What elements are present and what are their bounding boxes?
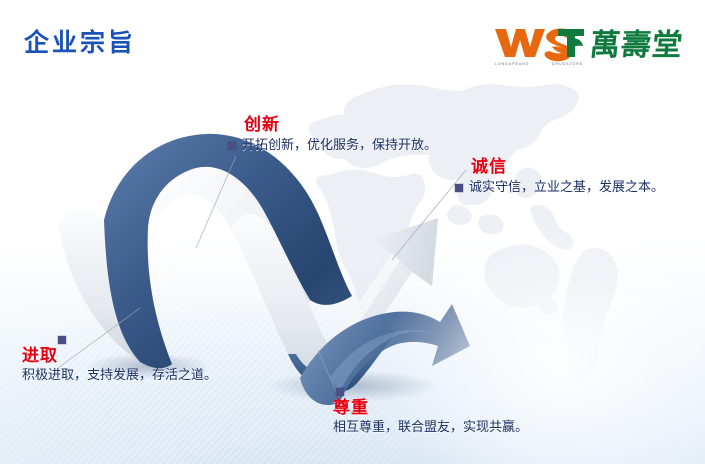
logo-tagline: LONGUPEANG DRUGSTORE <box>495 62 583 66</box>
callout-zunzhong: 尊重 相互尊重，联合盟友，实现共赢。 <box>333 388 528 436</box>
callout-heading: 诚信 <box>471 159 664 176</box>
callout-chuangxin: 创新 开拓创新，优化服务，保持开放。 <box>228 117 437 154</box>
square-bullet-icon <box>336 388 344 396</box>
square-bullet-icon <box>455 184 463 192</box>
callout-text: 诚实守信，立业之基，发展之本。 <box>469 181 664 196</box>
callout-jinqu: 进取 积极进取，支持发展，存活之道。 <box>22 336 217 384</box>
callout-text-row: 开拓创新，优化服务，保持开放。 <box>228 139 437 154</box>
callout-text: 相互尊重，联合盟友，实现共赢。 <box>333 421 528 436</box>
brand-name-cn: 萬壽堂 <box>588 31 684 61</box>
logo-tagline-left: LONGUPEANG <box>495 62 529 66</box>
callout-heading: 创新 <box>244 117 437 134</box>
page-title: 企业宗旨 <box>24 30 136 55</box>
callout-heading: 尊重 <box>333 400 528 417</box>
logo-tagline-right: DRUGSTORE <box>552 62 583 66</box>
square-bullet-icon <box>228 142 236 150</box>
callout-chengxin: 诚信 诚实守信，立业之基，发展之本。 <box>455 159 664 196</box>
callout-text: 积极进取，支持发展，存活之道。 <box>22 369 217 384</box>
callout-heading: 进取 <box>22 348 217 365</box>
company-logo: LONGUPEANG DRUGSTORE 萬壽堂 <box>492 24 683 68</box>
square-bullet-icon <box>58 336 66 344</box>
slide-canvas: 企业宗旨 LONGUPEANG DRUGSTORE 萬壽堂 <box>0 0 705 464</box>
wst-logo-icon: LONGUPEANG DRUGSTORE <box>492 25 584 67</box>
callout-text-row: 诚实守信，立业之基，发展之本。 <box>455 181 664 196</box>
callout-text: 开拓创新，优化服务，保持开放。 <box>242 139 437 154</box>
